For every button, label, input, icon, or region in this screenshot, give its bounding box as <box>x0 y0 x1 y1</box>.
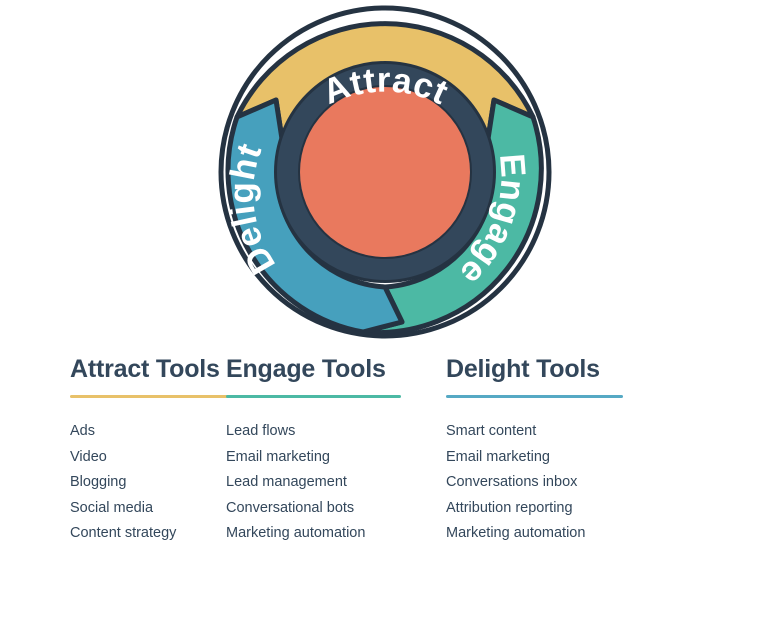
flywheel-infographic: Attract Engage Delight Attract Tools Ads… <box>0 0 768 629</box>
list-item: Social media <box>70 496 215 522</box>
column-rule-engage <box>226 395 401 398</box>
list-item: Conversational bots <box>226 496 437 522</box>
list-item: Marketing automation <box>446 521 768 547</box>
tools-columns: Attract Tools Ads Video Blogging Social … <box>0 352 768 547</box>
list-item: Smart content <box>446 419 768 445</box>
list-item: Lead management <box>226 470 437 496</box>
column-title-delight: Delight Tools <box>446 352 768 386</box>
tool-list-engage: Lead flows Email marketing Lead manageme… <box>226 419 437 547</box>
hub-circle <box>300 87 470 257</box>
flywheel-diagram: Attract Engage Delight <box>0 0 768 345</box>
list-item: Conversations inbox <box>446 470 768 496</box>
column-title-engage: Engage Tools <box>226 352 437 386</box>
column-rule-delight <box>446 395 623 398</box>
list-item: Content strategy <box>70 521 215 547</box>
column-engage-tools: Engage Tools Lead flows Email marketing … <box>215 352 437 547</box>
list-item: Ads <box>70 419 215 445</box>
list-item: Marketing automation <box>226 521 437 547</box>
column-rule-attract <box>70 395 234 398</box>
column-title-attract: Attract Tools <box>70 352 215 386</box>
list-item: Email marketing <box>446 445 768 471</box>
flywheel-svg: Attract Engage Delight <box>0 0 768 345</box>
list-item: Email marketing <box>226 445 437 471</box>
list-item: Attribution reporting <box>446 496 768 522</box>
list-item: Blogging <box>70 470 215 496</box>
tool-list-delight: Smart content Email marketing Conversati… <box>446 419 768 547</box>
list-item: Lead flows <box>226 419 437 445</box>
list-item: Video <box>70 445 215 471</box>
column-delight-tools: Delight Tools Smart content Email market… <box>437 352 768 547</box>
tool-list-attract: Ads Video Blogging Social media Content … <box>70 419 215 547</box>
column-attract-tools: Attract Tools Ads Video Blogging Social … <box>0 352 215 547</box>
